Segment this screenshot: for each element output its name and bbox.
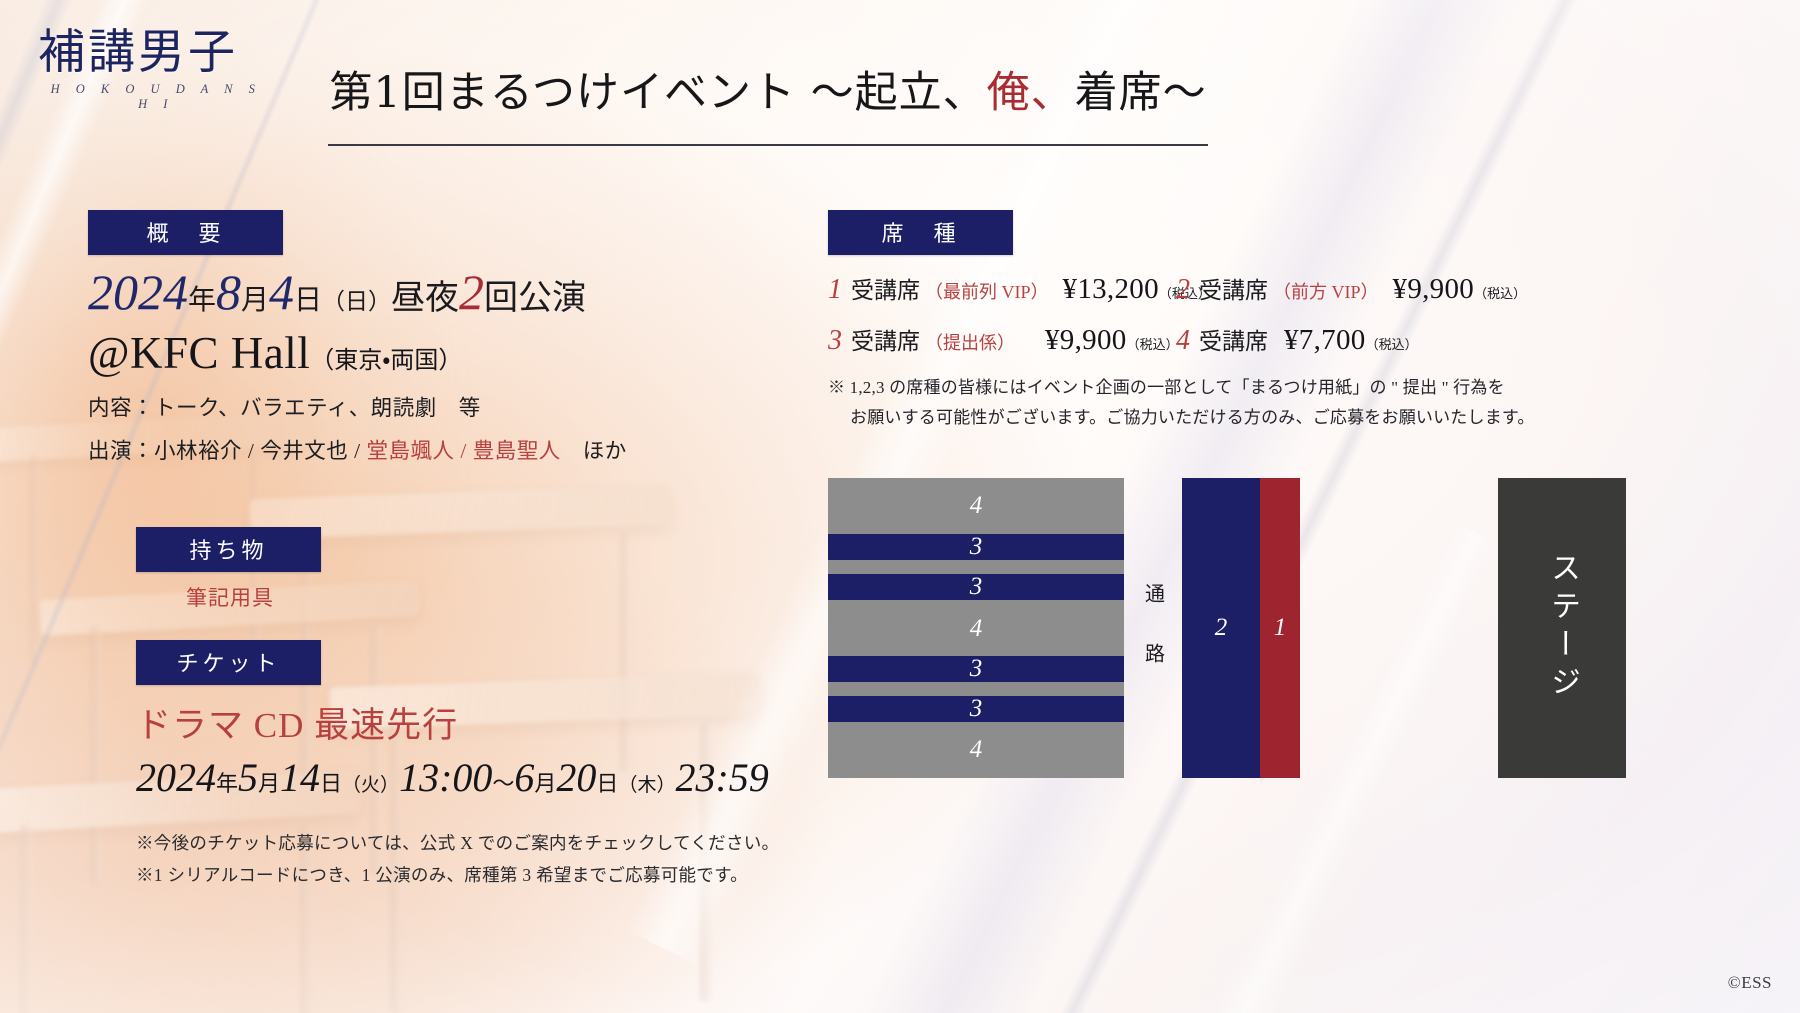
seatmap-front-blocks: 2 1 <box>1182 478 1300 778</box>
section-header-belongings: 持ち物 <box>136 527 321 572</box>
seatmap-block-label: 4 <box>828 615 1124 643</box>
title-pre: 第1回まるつけイベント ～起立、 <box>329 68 986 118</box>
sale-start-day: 14 <box>280 755 320 800</box>
cast-label: 出演： <box>88 439 154 463</box>
ticket-note: ※今後のチケット応募については、公式 X でのご案内をチェックしてください。 <box>136 827 728 859</box>
title-divider <box>328 144 1208 146</box>
belongings-section: 持ち物 筆記用具 <box>88 527 728 612</box>
logo-title: 補講男子 <box>38 28 268 77</box>
seatmap-stage: ステージ <box>1498 478 1626 778</box>
sale-start-year: 2024 <box>136 755 216 800</box>
venue-line: @KFC Hall（東京・両国） <box>88 327 728 379</box>
seat-price: ¥13,200 <box>1063 273 1159 306</box>
seat-tag: （最前列 VIP） <box>925 278 1049 304</box>
sessions-label: 昼夜 <box>391 280 459 317</box>
seat-name: 受講席 <box>851 322 920 356</box>
ticket-note: ※1 シリアルコードにつき、1 公演のみ、席種第 3 希望までご応募可能です。 <box>136 859 728 891</box>
seat-tag: （前方 VIP） <box>1273 278 1379 304</box>
seat-price-item: 4 受講席 ¥7,700 （税込） <box>1176 322 1418 357</box>
seat-number: 1 <box>828 274 842 306</box>
seatmap-aisle: 通 路 <box>1124 478 1182 778</box>
seat-price-grid: 1 受講席 （最前列 VIP） ¥13,200 （税込） 2 受講席 （前方 V… <box>828 271 1728 357</box>
ticket-period: 2024年5月14日（火）13:00〜6月20日（木）23:59 <box>136 754 728 801</box>
title-post: 着席～ <box>1075 68 1207 118</box>
seat-types-section: 席 種 1 受講席 （最前列 VIP） ¥13,200 （税込） 2 受講席 （… <box>828 210 1728 433</box>
cast-others: ほか <box>561 439 627 463</box>
day-unit: 日 <box>294 285 322 316</box>
sale-start-time: 13:00 <box>399 755 492 800</box>
event-day: 4 <box>269 264 294 320</box>
seat-name: 受講席 <box>851 271 920 305</box>
seat-price-item: 1 受講席 （最前列 VIP） ¥13,200 （税込） <box>828 271 1176 306</box>
seatmap-block-label: 3 <box>828 655 1124 683</box>
venue-name: @KFC Hall <box>88 328 310 378</box>
sale-start-month-unit: 月 <box>258 771 280 796</box>
year-unit: 年 <box>188 285 216 316</box>
tax-label: （税込） <box>1474 283 1526 302</box>
sale-start-year-unit: 年 <box>216 771 238 796</box>
seat-price-row: 1 受講席 （最前列 VIP） ¥13,200 （税込） 2 受講席 （前方 V… <box>828 271 1728 306</box>
belongings-value: 筆記用具 <box>136 582 728 612</box>
seat-price: ¥9,900 <box>1393 273 1475 306</box>
logo-romaji: H O K O U D A N S H I <box>38 82 268 112</box>
seat-name: 受講席 <box>1199 322 1268 356</box>
seat-price: ¥9,900 <box>1045 324 1127 357</box>
section-header-seat-types: 席 種 <box>828 210 1013 255</box>
seat-note-line1: ※ 1,2,3 の席種の皆様にはイベント企画の一部として「まるつけ用紙」の " … <box>828 378 1505 397</box>
section-2-label: 2 <box>1215 614 1228 642</box>
seatmap-block-label: 3 <box>828 573 1124 601</box>
brand-logo: 補講男子 H O K O U D A N S H I <box>38 28 268 112</box>
seat-number: 3 <box>828 325 842 357</box>
aisle-label: 通 路 <box>1139 583 1168 673</box>
sale-end-day: 20 <box>556 755 596 800</box>
seatmap-block-label: 3 <box>828 533 1124 561</box>
venue-location: （東京・両国） <box>310 348 462 374</box>
seat-price-row: 3 受講席 （提出係） ¥9,900 （税込） 4 受講席 ¥7,700 （税込… <box>828 322 1728 357</box>
program-content-line: 内容：トーク、バラエティ、朗読劇 等 <box>88 391 728 422</box>
sale-start-day-unit: 日 <box>320 771 342 796</box>
cast-names-primary: 小林裕介 / 今井文也 / <box>154 439 366 463</box>
event-year: 2024 <box>88 264 188 320</box>
seatmap-block-label: 4 <box>828 736 1124 764</box>
sale-end-time: 23:59 <box>675 755 768 800</box>
sale-end-weekday: （木） <box>618 775 675 796</box>
sale-start-month: 5 <box>238 755 258 800</box>
title-accent: 俺、 <box>987 68 1075 118</box>
sale-start-weekday: （火） <box>342 775 399 796</box>
sale-end-month: 6 <box>514 755 534 800</box>
event-weekday: （日） <box>322 289 391 314</box>
ticket-notes: ※今後のチケット応募については、公式 X でのご案内をチェックしてください。 ※… <box>136 827 728 892</box>
seat-name: 受講席 <box>1199 271 1268 305</box>
copyright: ©ESS <box>1728 973 1772 993</box>
seat-tag: （提出係） <box>925 329 1015 355</box>
seat-map-main-floor: 4 3 3 4 3 3 4 <box>828 478 1124 778</box>
cast-line: 出演：小林裕介 / 今井文也 / 堂島颯人 / 豊島聖人 ほか <box>88 434 728 465</box>
seat-map: 4 3 3 4 3 3 4 通 路 2 1 <box>828 478 1432 778</box>
sale-end-day-unit: 日 <box>596 771 618 796</box>
seatmap-section-1: 1 <box>1260 478 1300 778</box>
seat-note: ※ 1,2,3 の席種の皆様にはイベント企画の一部として「まるつけ用紙」の " … <box>828 373 1728 433</box>
ticket-section: チケット ドラマ CD 最速先行 2024年5月14日（火）13:00〜6月20… <box>88 640 728 892</box>
section-1-label: 1 <box>1274 614 1287 642</box>
section-header-overview: 概 要 <box>88 210 283 255</box>
section-header-ticket: チケット <box>136 640 321 685</box>
seatmap-section-2: 2 <box>1182 478 1260 778</box>
seat-price-item: 2 受講席 （前方 VIP） ¥9,900 （税込） <box>1176 271 1526 306</box>
seat-price-item: 3 受講席 （提出係） ¥9,900 （税込） <box>828 322 1176 357</box>
page-title: 第1回まるつけイベント ～起立、俺、着席～ <box>318 58 1218 146</box>
tax-label: （税込） <box>1366 334 1418 353</box>
seatmap-block-label: 4 <box>828 492 1124 520</box>
sessions-unit: 回公演 <box>484 280 586 317</box>
cast-names-accent: 堂島颯人 / 豊島聖人 <box>366 439 560 463</box>
event-date-line: 2024年8月4日（日）昼夜2回公演 <box>88 263 728 321</box>
ticket-headline: ドラマ CD 最速先行 <box>136 697 728 748</box>
seat-price: ¥7,700 <box>1284 324 1366 357</box>
stage-label: ステージ <box>1540 552 1584 704</box>
overview-section: 概 要 2024年8月4日（日）昼夜2回公演 @KFC Hall（東京・両国） … <box>88 210 728 892</box>
sessions-count: 2 <box>459 264 484 320</box>
tax-label: （税込） <box>1127 334 1179 353</box>
seat-note-line2: お願いする可能性がございます。ご協力いただける方のみ、ご応募をお願いいたします。 <box>828 403 1728 433</box>
seat-number: 4 <box>1176 325 1190 357</box>
seat-number: 2 <box>1176 274 1190 306</box>
range-mark: 〜 <box>492 771 514 796</box>
sale-end-month-unit: 月 <box>534 771 556 796</box>
month-unit: 月 <box>241 285 269 316</box>
seatmap-block-label: 3 <box>828 695 1124 723</box>
event-month: 8 <box>216 264 241 320</box>
